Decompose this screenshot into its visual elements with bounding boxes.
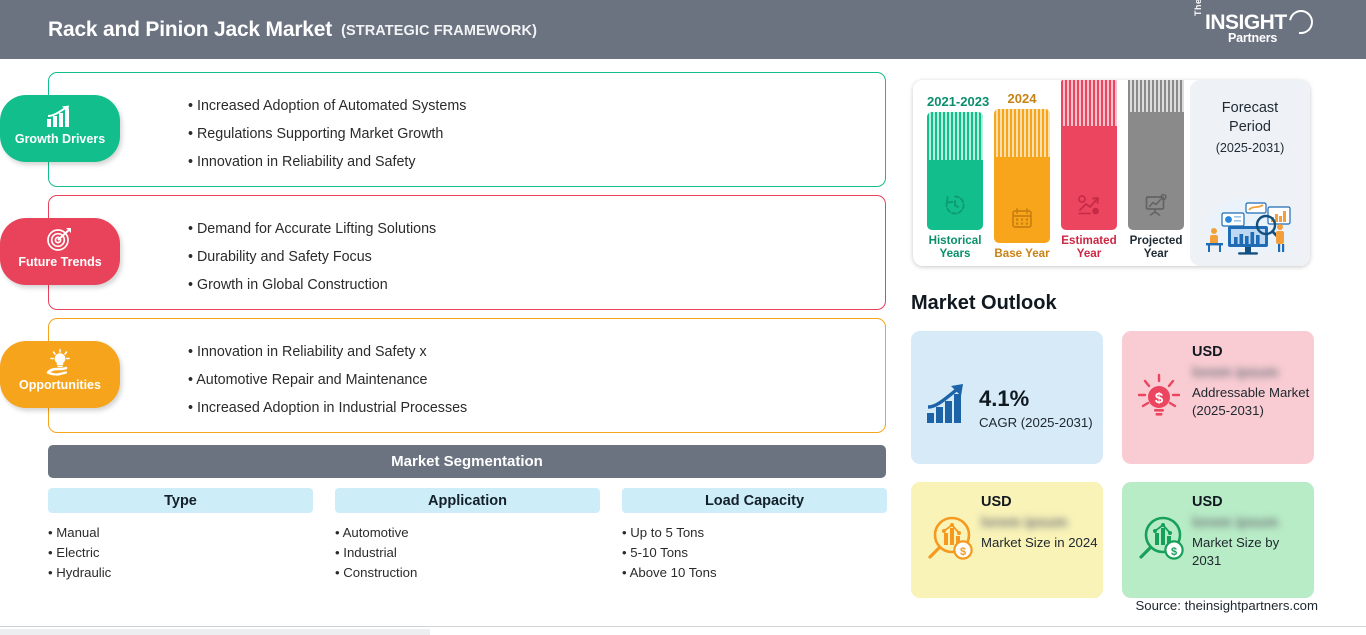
pillar-item-list: Increased Adoption of Automated Systems … — [188, 92, 848, 176]
pillar-growth-drivers: Growth Drivers Increased Adoption of Aut… — [0, 72, 900, 187]
forecast-range: (2025-2031) — [1190, 141, 1310, 155]
column-header-label: Load Capacity — [705, 493, 804, 509]
list-item: Automotive Repair and Maintenance — [188, 366, 848, 394]
bar-chart-growth-icon — [45, 103, 75, 130]
magnifier-bar-dollar-icon: $ — [1133, 515, 1189, 572]
list-item: Hydraulic — [48, 563, 313, 583]
timeline-card: 2021-2023 Historical Years 2024 — [913, 80, 1310, 266]
forecast-period-panel: Forecast Period (2025-2031) — [1190, 80, 1310, 266]
outlook-card-market-size-2031[interactable]: $ USD lorem ipsum Market Size by 2031 — [1122, 482, 1314, 598]
timeline-bar — [1061, 80, 1117, 230]
lightbulb-hand-icon — [44, 349, 76, 376]
timeline-category-label: Historical Years — [927, 234, 983, 260]
list-item: Industrial — [335, 543, 600, 563]
bar-stripes — [994, 109, 1050, 157]
timeline-category-label: Projected Year — [1128, 234, 1184, 260]
badge-label: Growth Drivers — [15, 133, 105, 146]
forecast-chart-icon — [1061, 194, 1117, 216]
pillar-item-list: Demand for Accurate Lifting Solutions Du… — [188, 215, 848, 299]
insight-partners-logo: The INSIGHT Partners — [1194, 10, 1310, 50]
list-item: Innovation in Reliability and Safety — [188, 148, 848, 176]
currency-label: USD — [1192, 344, 1310, 360]
column-header-label: Type — [164, 493, 197, 509]
segmentation-column-load-capacity: Load Capacity Up to 5 Tons 5-10 Tons Abo… — [622, 488, 887, 583]
segmentation-column-header: Type — [48, 488, 313, 513]
list-item: Increased Adoption of Automated Systems — [188, 92, 848, 120]
forecast-title-line2: Period — [1190, 118, 1310, 137]
segmentation-item-list: Manual Electric Hydraulic — [48, 523, 313, 583]
bar-stripes — [927, 112, 983, 160]
svg-text:$: $ — [960, 546, 966, 558]
timeline-year-label: 2021-2023 — [927, 95, 983, 108]
segmentation-column-header: Load Capacity — [622, 488, 887, 513]
timeline-bar — [994, 109, 1050, 243]
forecast-title-line1: Forecast — [1190, 99, 1310, 118]
source-attribution: Source: theinsightpartners.com — [1135, 598, 1318, 613]
list-item: Durability and Safety Focus — [188, 243, 848, 271]
timeline-item-projected: 2031 Projected Year — [1128, 80, 1184, 260]
segmentation-title: Market Segmentation — [391, 453, 543, 470]
magnifier-bar-dollar-icon: $ — [922, 515, 978, 572]
badge-opportunities[interactable]: Opportunities — [0, 341, 120, 408]
timeline-item-historical: 2021-2023 Historical Years — [927, 95, 983, 260]
list-item: Above 10 Tons — [622, 563, 887, 583]
timeline-category-label: Estimated Year — [1061, 234, 1117, 260]
list-item: Up to 5 Tons — [622, 523, 887, 543]
page-header: Rack and Pinion Jack Market (STRATEGIC F… — [0, 0, 1366, 59]
analytics-illustration-icon — [1200, 193, 1300, 260]
timeline-item-estimated: 2025 Estimated Year — [1061, 80, 1117, 260]
blurred-value: lorem ipsum — [981, 515, 1067, 531]
infographic-page: Rack and Pinion Jack Market (STRATEGIC F… — [0, 0, 1366, 635]
list-item: Automotive — [335, 523, 600, 543]
card-caption: Market Size by 2031 — [1192, 534, 1310, 570]
bar-stripes — [1128, 80, 1184, 112]
badge-label: Opportunities — [19, 379, 101, 392]
segmentation-column-header: Application — [335, 488, 600, 513]
list-item: Construction — [335, 563, 600, 583]
segmentation-item-list: Up to 5 Tons 5-10 Tons Above 10 Tons — [622, 523, 887, 583]
timeline-bar — [927, 112, 983, 230]
logo-the-text: The — [1194, 0, 1203, 16]
svg-text:$: $ — [1171, 546, 1177, 558]
bar-stripes — [1061, 80, 1117, 126]
list-item: 5-10 Tons — [622, 543, 887, 563]
calendar-icon — [994, 207, 1050, 229]
target-dart-icon — [46, 226, 74, 253]
column-header-label: Application — [428, 493, 507, 509]
timeline-bar — [1128, 80, 1184, 230]
cagr-caption: CAGR (2025-2031) — [979, 414, 1099, 432]
outlook-card-addressable-market[interactable]: $ USD lorem ipsum Addressable Market (20… — [1122, 331, 1314, 464]
svg-text:$: $ — [1155, 390, 1164, 407]
outlook-card-cagr[interactable]: 4.1% CAGR (2025-2031) — [911, 331, 1103, 464]
pillar-item-list: Innovation in Reliability and Safety x A… — [188, 338, 848, 422]
pillar-future-trends: Future Trends Demand for Accurate Liftin… — [0, 195, 900, 310]
badge-growth-drivers[interactable]: Growth Drivers — [0, 95, 120, 162]
projection-screen-icon — [1128, 194, 1184, 216]
page-subtitle: (STRATEGIC FRAMEWORK) — [341, 23, 537, 39]
badge-label: Future Trends — [18, 256, 101, 269]
list-item: Innovation in Reliability and Safety x — [188, 338, 848, 366]
market-segmentation-header: Market Segmentation — [48, 445, 886, 478]
timeline-year-label: 2024 — [994, 92, 1050, 105]
card-caption: Market Size in 2024 — [981, 534, 1099, 552]
logo-insight-text: INSIGHT — [1205, 12, 1287, 33]
segmentation-item-list: Automotive Industrial Construction — [335, 523, 600, 583]
blurred-value: lorem ipsum — [1192, 515, 1278, 531]
bottom-scrollbar[interactable] — [0, 629, 430, 635]
page-title: Rack and Pinion Jack Market — [48, 18, 332, 42]
cagr-value: 4.1% — [979, 387, 1099, 411]
segmentation-column-application: Application Automotive Industrial Constr… — [335, 488, 600, 583]
card-caption: Addressable Market (2025-2031) — [1192, 384, 1310, 420]
bottom-divider — [0, 626, 1366, 627]
list-item: Regulations Supporting Market Growth — [188, 120, 848, 148]
bar-chart-arrow-icon — [924, 383, 972, 430]
list-item: Growth in Global Construction — [188, 271, 848, 299]
lightbulb-dollar-icon: $ — [1133, 373, 1185, 428]
list-item: Increased Adoption in Industrial Process… — [188, 394, 848, 422]
timeline-category-label: Base Year — [994, 247, 1050, 260]
clock-history-icon — [927, 194, 983, 216]
segmentation-column-type: Type Manual Electric Hydraulic — [48, 488, 313, 583]
list-item: Manual — [48, 523, 313, 543]
timeline-item-base: 2024 — [994, 92, 1050, 260]
badge-future-trends[interactable]: Future Trends — [0, 218, 120, 285]
blurred-value: lorem ipsum — [1192, 365, 1278, 381]
outlook-card-market-size-2024[interactable]: $ USD lorem ipsum Market Size in 2024 — [911, 482, 1103, 598]
currency-label: USD — [1192, 494, 1310, 510]
timeline-bars: 2021-2023 Historical Years 2024 — [927, 80, 1177, 266]
currency-label: USD — [981, 494, 1099, 510]
list-item: Demand for Accurate Lifting Solutions — [188, 215, 848, 243]
logo-partners-text: Partners — [1228, 32, 1277, 45]
logo-arc-icon — [1284, 5, 1317, 38]
market-outlook-title: Market Outlook — [911, 292, 1057, 315]
list-item: Electric — [48, 543, 313, 563]
pillar-opportunities: Opportunities Innovation in Reliability … — [0, 318, 900, 433]
